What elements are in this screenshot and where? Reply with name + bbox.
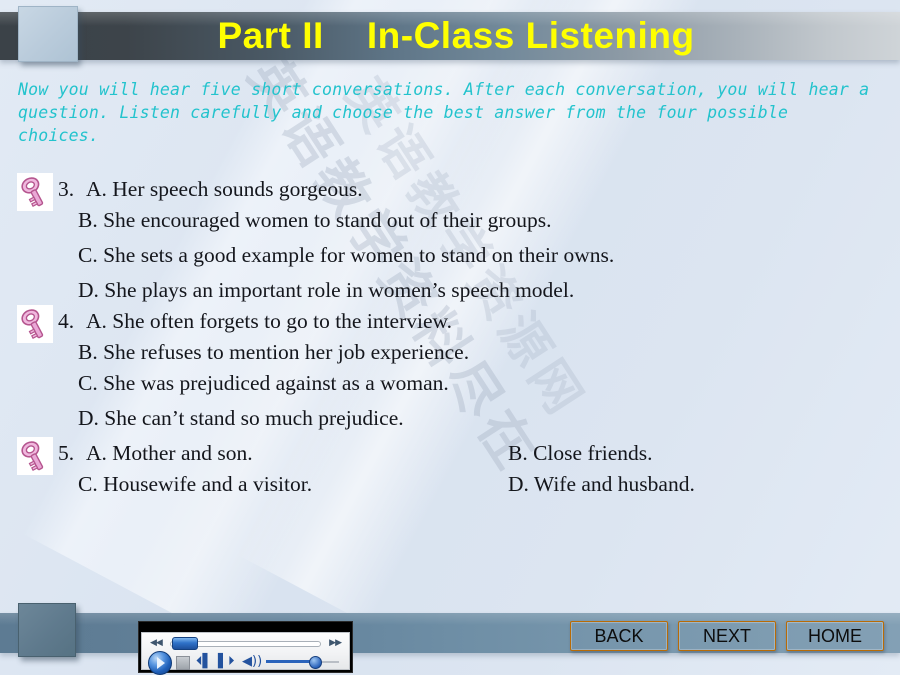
question-number: 4.	[58, 309, 74, 334]
option-row[interactable]: 4. A. She often forgets to go to the int…	[0, 307, 900, 338]
media-player[interactable]: ◀◀ ▶▶ ⏴▌ ▌⏵ ◀))	[138, 621, 353, 673]
question-number: 3.	[58, 177, 74, 202]
seek-thumb[interactable]	[172, 637, 198, 650]
option-row[interactable]: B. She refuses to mention her job experi…	[0, 338, 900, 369]
rewind-icon[interactable]: ◀◀	[150, 638, 162, 648]
option-label: D. She plays an important role in women’…	[78, 278, 574, 303]
option-row[interactable]: C. Housewife and a visitor. D. Wife and …	[0, 470, 900, 505]
seek-bar[interactable]: ◀◀ ▶▶	[146, 636, 345, 649]
option-row[interactable]: 5. A. Mother and son. B. Close friends.	[0, 439, 900, 470]
fast-forward-icon[interactable]: ▶▶	[329, 638, 341, 648]
media-player-panel: ◀◀ ▶▶ ⏴▌ ▌⏵ ◀))	[141, 632, 350, 670]
option-label: D. Wife and husband.	[508, 472, 695, 497]
volume-thumb[interactable]	[309, 656, 322, 669]
option-label: B. She refuses to mention her job experi…	[78, 340, 469, 365]
header-decor-block	[18, 6, 78, 62]
footer-decor-block	[18, 603, 76, 657]
option-label: A. Mother and son.	[86, 441, 253, 466]
home-button[interactable]: HOME	[786, 621, 884, 651]
page-title: Part II In-Class Listening	[0, 12, 900, 60]
navigation-buttons: BACK NEXT HOME	[570, 621, 884, 651]
option-label: B. Close friends.	[508, 441, 653, 466]
volume-fill	[266, 660, 314, 663]
back-button[interactable]: BACK	[570, 621, 668, 651]
stop-icon[interactable]	[176, 656, 190, 670]
option-label: A. Her speech sounds gorgeous.	[86, 177, 363, 202]
option-row[interactable]: D. She plays an important role in women’…	[0, 276, 900, 307]
question-group-4: 4. A. She often forgets to go to the int…	[0, 307, 900, 439]
option-row[interactable]: 3. A. Her speech sounds gorgeous.	[0, 175, 900, 206]
option-row[interactable]: C. She sets a good example for women to …	[0, 241, 900, 276]
play-icon[interactable]	[148, 651, 172, 675]
question-group-3: 3. A. Her speech sounds gorgeous. B. She…	[0, 175, 900, 307]
previous-track-icon[interactable]: ⏴▌	[196, 655, 210, 669]
option-row[interactable]: B. She encouraged women to stand out of …	[0, 206, 900, 241]
next-track-icon[interactable]: ▌⏵	[218, 655, 232, 669]
option-row[interactable]: C. She was prejudiced against as a woman…	[0, 369, 900, 404]
next-button[interactable]: NEXT	[678, 621, 776, 651]
player-controls: ⏴▌ ▌⏵ ◀))	[146, 651, 345, 673]
question-list: 3. A. Her speech sounds gorgeous. B. She…	[0, 175, 900, 505]
option-row[interactable]: D. She can’t stand so much prejudice.	[0, 404, 900, 439]
option-label: B. She encouraged women to stand out of …	[78, 208, 552, 233]
option-label: D. She can’t stand so much prejudice.	[78, 406, 404, 431]
slide-canvas: 英语教学资料尽在 英语教学资源网 Part II In-Class Listen…	[0, 0, 900, 675]
instructions-text: Now you will hear five short conversatio…	[18, 78, 874, 147]
question-number: 5.	[58, 441, 74, 466]
option-label: C. She sets a good example for women to …	[78, 243, 614, 268]
volume-icon[interactable]: ◀))	[242, 655, 260, 669]
option-label: C. She was prejudiced against as a woman…	[78, 371, 449, 396]
question-group-5: 5. A. Mother and son. B. Close friends. …	[0, 439, 900, 505]
option-label: C. Housewife and a visitor.	[78, 472, 312, 497]
option-label: A. She often forgets to go to the interv…	[86, 309, 452, 334]
